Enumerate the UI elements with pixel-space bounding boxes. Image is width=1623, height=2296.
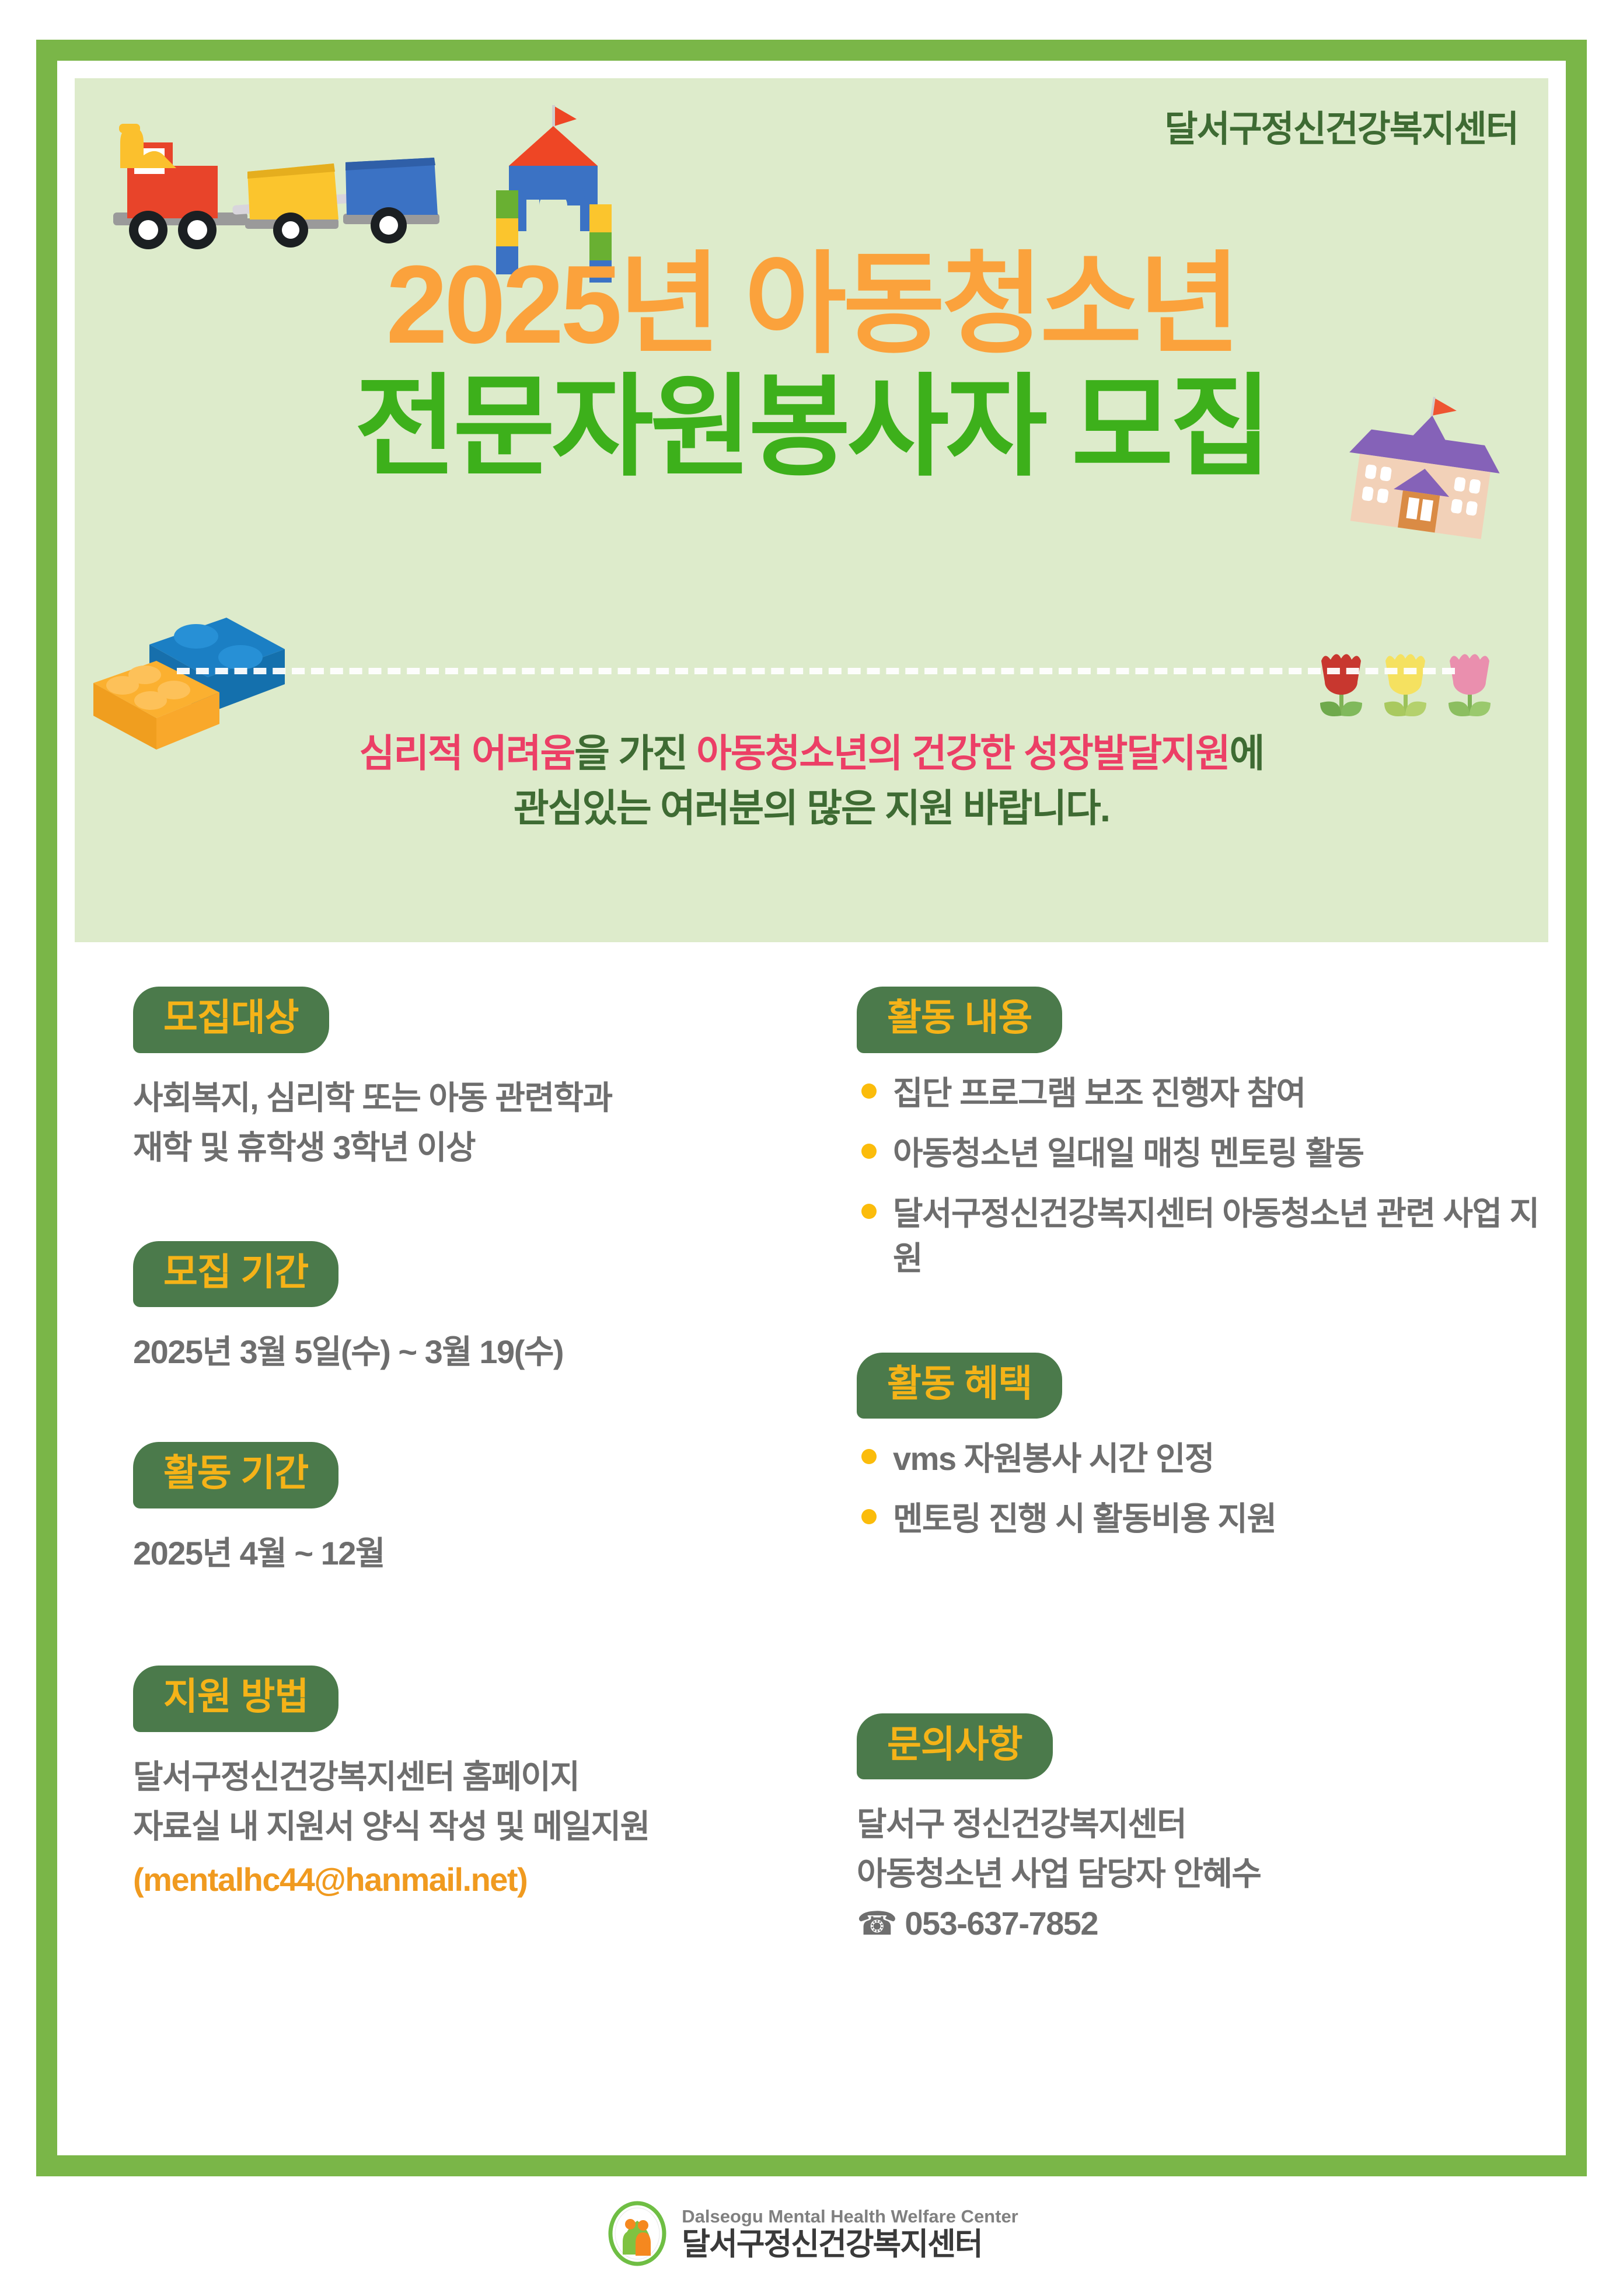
hero-panel: 달서구정신건강복지센터: [75, 78, 1548, 942]
organization-name: 달서구정신건강복지센터: [1165, 99, 1518, 152]
logo-text-block: Dalseogu Mental Health Welfare Center 달서…: [682, 2207, 1018, 2260]
title-line-2: 전문자원봉사자 모집: [75, 367, 1548, 489]
inquiry-phone: ☎ 053-637-7852: [857, 1898, 1545, 1948]
section-apply-method: 지원 방법 달서구정신건강복지센터 홈페이지 자료실 내 지원서 양식 작성 및…: [133, 1666, 822, 1904]
section-body-activity-period: 2025년 4월 ~ 12월: [133, 1528, 822, 1578]
section-recruit-target: 모집대상 사회복지, 심리학 또는 아동 관련학과 재학 및 휴학생 3학년 이…: [133, 987, 822, 1172]
section-body-apply-method: 달서구정신건강복지센터 홈페이지 자료실 내 지원서 양식 작성 및 메일지원 …: [133, 1752, 822, 1904]
activity-benefit-list: vms 자원봉사 시간 인정 멘토링 진행 시 활동비용 지원: [857, 1436, 1545, 1542]
poster-title: 2025년 아동청소년 전문자원봉사자 모집: [75, 248, 1548, 489]
subtitle-post: 에: [1230, 731, 1264, 775]
apply-method-line-1: 달서구정신건강복지센터 홈페이지: [133, 1752, 822, 1802]
apply-method-line-2: 자료실 내 지원서 양식 작성 및 메일지원: [133, 1802, 822, 1851]
title-line-1: 2025년 아동청소년: [75, 248, 1548, 363]
section-body-recruit-period: 2025년 3월 5일(수) ~ 3월 19(수): [133, 1327, 822, 1377]
logo-korean-name: 달서구정신건강복지센터: [682, 2229, 1018, 2260]
section-activity-period: 활동 기간 2025년 4월 ~ 12월: [133, 1442, 822, 1578]
activity-content-list: 집단 프로그램 보조 진행자 참여 아동청소년 일대일 매칭 멘토링 활동 달서…: [857, 1071, 1545, 1281]
section-label-activity-benefit: 활동 혜택: [857, 1353, 1062, 1419]
dashed-divider: [177, 668, 1455, 674]
spacer: [133, 1172, 822, 1241]
logo-english-name: Dalseogu Mental Health Welfare Center: [682, 2207, 1018, 2225]
right-column: 활동 내용 집단 프로그램 보조 진행자 참여 아동청소년 일대일 매칭 멘토링…: [857, 987, 1545, 1948]
content-columns: 모집대상 사회복지, 심리학 또는 아동 관련학과 재학 및 휴학생 3학년 이…: [75, 987, 1548, 2154]
section-recruit-period: 모집 기간 2025년 3월 5일(수) ~ 3월 19(수): [133, 1241, 822, 1377]
section-label-recruit-period: 모집 기간: [133, 1241, 338, 1308]
list-item: vms 자원봉사 시간 인정: [857, 1436, 1545, 1481]
subtitle-line-1: 심리적 어려움을 가진 아동청소년의 건강한 성장발달지원에: [75, 726, 1548, 781]
left-column: 모집대상 사회복지, 심리학 또는 아동 관련학과 재학 및 휴학생 3학년 이…: [133, 987, 822, 1904]
spacer: [857, 1557, 1545, 1713]
subtitle-highlight-1: 심리적 어려움: [359, 731, 575, 775]
section-inquiry: 문의사항 달서구 정신건강복지센터 아동청소년 사업 담당자 안혜수 ☎ 053…: [857, 1713, 1545, 1949]
list-item: 아동청소년 일대일 매칭 멘토링 활동: [857, 1131, 1545, 1176]
section-label-inquiry: 문의사항: [857, 1713, 1053, 1780]
section-activity-content: 활동 내용 집단 프로그램 보조 진행자 참여 아동청소년 일대일 매칭 멘토링…: [857, 987, 1545, 1281]
inquiry-line-2: 아동청소년 사업 담당자 안혜수: [857, 1849, 1545, 1898]
section-label-activity-period: 활동 기간: [133, 1442, 338, 1508]
section-label-apply-method: 지원 방법: [133, 1666, 338, 1732]
inquiry-line-1: 달서구 정신건강복지센터: [857, 1799, 1545, 1849]
spacer: [133, 1377, 822, 1442]
spacer: [857, 1297, 1545, 1353]
section-label-recruit-target: 모집대상: [133, 987, 329, 1053]
center-logo-icon: [605, 2201, 670, 2266]
subtitle-line-2: 관심있는 여러분의 많은 지원 바랍니다.: [75, 781, 1548, 836]
section-body-inquiry: 달서구 정신건강복지센터 아동청소년 사업 담당자 안혜수 ☎ 053-637-…: [857, 1799, 1545, 1948]
list-item: 멘토링 진행 시 활동비용 지원: [857, 1496, 1545, 1541]
section-activity-benefit: 활동 혜택 vms 자원봉사 시간 인정 멘토링 진행 시 활동비용 지원: [857, 1353, 1545, 1542]
three-tulips-icon: [1312, 627, 1510, 738]
recruit-target-line-2: 재학 및 휴학생 3학년 이상: [133, 1123, 822, 1172]
recruit-target-line-1: 사회복지, 심리학 또는 아동 관련학과: [133, 1073, 822, 1123]
section-label-activity-content: 활동 내용: [857, 987, 1062, 1053]
list-item: 집단 프로그램 보조 진행자 참여: [857, 1071, 1545, 1116]
subtitle-mid: 을 가진: [574, 731, 696, 775]
footer-logo: Dalseogu Mental Health Welfare Center 달서…: [0, 2201, 1623, 2266]
section-body-recruit-target: 사회복지, 심리학 또는 아동 관련학과 재학 및 휴학생 3학년 이상: [133, 1073, 822, 1172]
spacer: [133, 1578, 822, 1666]
apply-email[interactable]: (mentalhc44@hanmail.net): [133, 1855, 822, 1904]
poster-subtitle: 심리적 어려움을 가진 아동청소년의 건강한 성장발달지원에 관심있는 여러분의…: [75, 726, 1548, 835]
subtitle-highlight-2: 아동청소년의 건강한 성장발달지원: [696, 731, 1229, 775]
poster-root: 달서구정신건강복지센터: [0, 0, 1623, 2296]
list-item: 달서구정신건강복지센터 아동청소년 관련 사업 지원: [857, 1191, 1545, 1281]
